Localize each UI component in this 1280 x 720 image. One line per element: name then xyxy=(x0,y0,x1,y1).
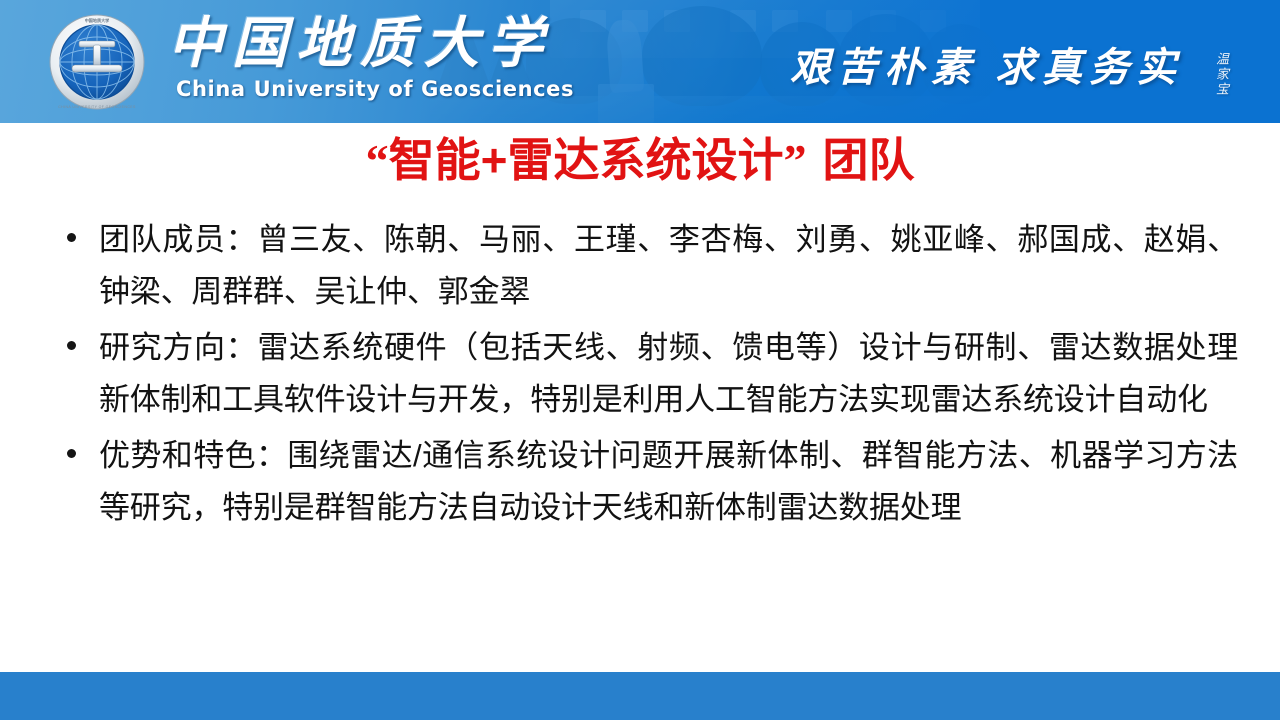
bullet-dot-icon xyxy=(67,449,76,458)
bullet-list: 团队成员：曾三友、陈朝、马丽、王瑾、李杏梅、刘勇、姚亚峰、郝国成、赵娟、钟梁、周… xyxy=(58,214,1238,538)
title-quote-close: ” xyxy=(783,135,806,186)
title-quote-open: “ xyxy=(366,135,389,186)
list-item: 研究方向：雷达系统硬件（包括天线、射频、馈电等）设计与研制、雷达数据处理新体制和… xyxy=(58,322,1238,426)
title-plus: + xyxy=(481,134,508,186)
footer-bar xyxy=(0,672,1280,720)
motto-signature: 温家宝 xyxy=(1208,52,1228,97)
bullet-dot-icon xyxy=(67,233,76,242)
university-emblem-icon: 中国地质大学 CHINA UNIVERSITY OF GEOSCIENCES xyxy=(48,13,146,111)
university-name-en: China University of Geosciences xyxy=(176,79,574,100)
university-name-cn: 中国地质大学 xyxy=(168,16,552,71)
svg-text:中国地质大学: 中国地质大学 xyxy=(85,17,110,23)
svg-text:CHINA UNIVERSITY OF GEOSCIENCE: CHINA UNIVERSITY OF GEOSCIENCES xyxy=(58,105,136,109)
bullet-dot-icon xyxy=(67,341,76,350)
title-main2: 雷达系统设计 xyxy=(507,135,783,186)
title-suffix: 团队 xyxy=(822,135,914,186)
list-item-text: 优势和特色：围绕雷达/通信系统设计问题开展新体制、群智能方法、机器学习方法等研究… xyxy=(99,430,1238,534)
list-item-text: 研究方向：雷达系统硬件（包括天线、射频、馈电等）设计与研制、雷达数据处理新体制和… xyxy=(99,322,1238,426)
list-item-text: 团队成员：曾三友、陈朝、马丽、王瑾、李杏梅、刘勇、姚亚峰、郝国成、赵娟、钟梁、周… xyxy=(99,214,1238,318)
page-title: “智能+雷达系统设计”团队 xyxy=(0,134,1280,188)
list-item: 团队成员：曾三友、陈朝、马丽、王瑾、李杏梅、刘勇、姚亚峰、郝国成、赵娟、钟梁、周… xyxy=(58,214,1238,318)
header-banner: 中国地质大学 CHINA UNIVERSITY OF GEOSCIENCES 中… xyxy=(0,0,1280,123)
title-main: 智能 xyxy=(389,135,481,186)
list-item: 优势和特色：围绕雷达/通信系统设计问题开展新体制、群智能方法、机器学习方法等研究… xyxy=(58,430,1238,534)
university-motto: 艰苦朴素 求真务实 xyxy=(790,48,1183,88)
slide-root: 中国地质大学 CHINA UNIVERSITY OF GEOSCIENCES 中… xyxy=(0,0,1280,720)
